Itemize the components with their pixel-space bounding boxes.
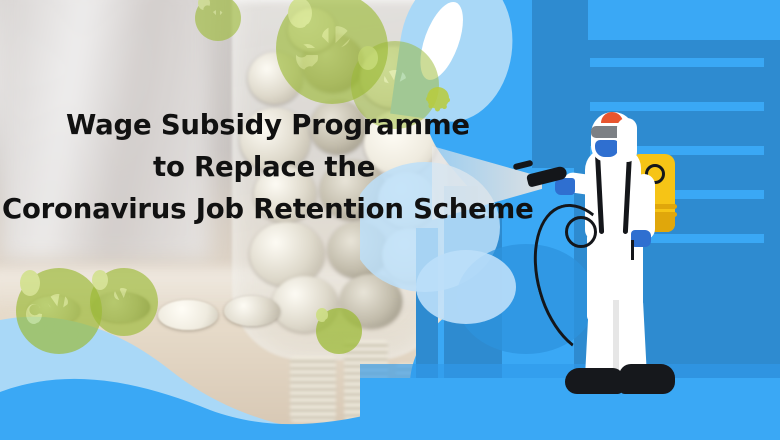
hood-side <box>617 118 637 162</box>
glove-right <box>631 230 651 247</box>
headline-line-2: to Replace the <box>0 146 530 188</box>
coin <box>224 296 280 326</box>
banner: Wage Subsidy Programme to Replace the Co… <box>0 0 780 440</box>
glove-left <box>555 178 575 195</box>
headline-line-1: Wage Subsidy Programme <box>0 104 530 146</box>
boot-left <box>565 368 623 394</box>
sprayer-hose-loop <box>565 216 597 248</box>
virus-particle <box>72 250 176 354</box>
decor-blob <box>416 250 516 324</box>
boot-right <box>619 364 675 394</box>
headline-line-3: Coronavirus Job Retention Scheme <box>0 188 530 230</box>
sanitation-worker-illustration <box>545 112 695 412</box>
headline: Wage Subsidy Programme to Replace the Co… <box>0 104 530 230</box>
virus-particle <box>182 0 254 54</box>
virus-particle <box>302 294 376 368</box>
face-mask <box>595 140 619 157</box>
sprayer-hose-connector <box>631 240 634 260</box>
